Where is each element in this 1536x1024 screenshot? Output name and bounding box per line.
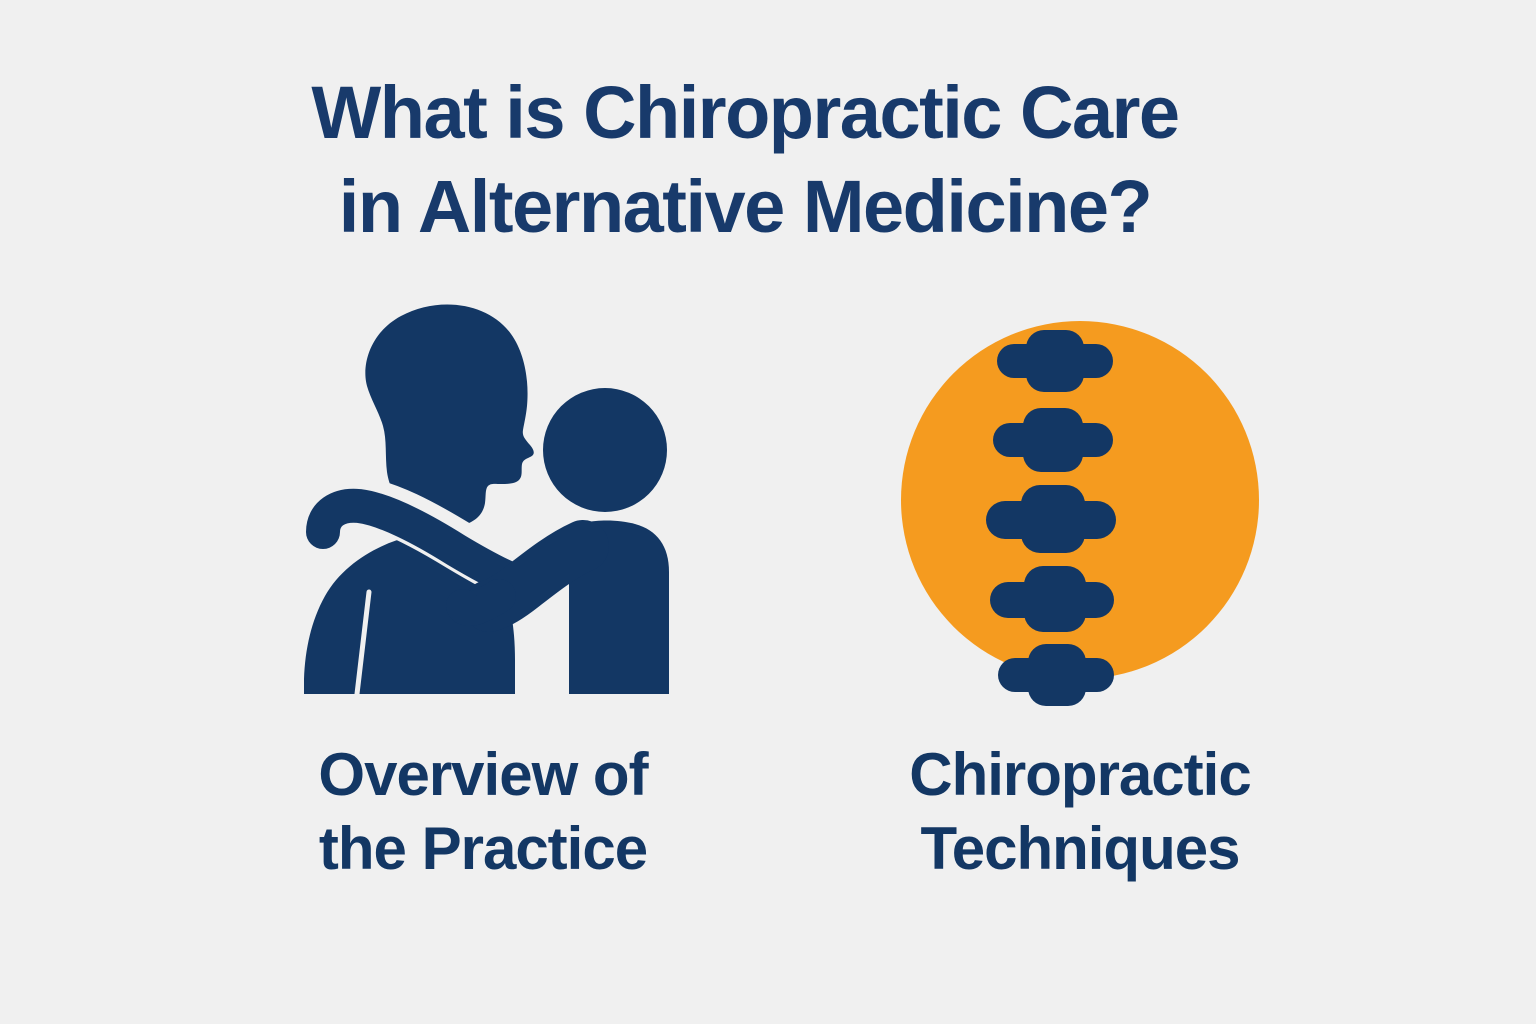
chiropractic-infographic: What is Chiropractic Care in Alternative… [0,0,1536,1024]
card-overview-caption-line-1: Overview of [318,738,647,812]
practitioner-and-patient-icon [283,300,683,700]
card-overview-caption-line-2: the Practice [318,812,647,886]
page-title: What is Chiropractic Care in Alternative… [0,66,1490,254]
practitioner-head [543,388,667,512]
card-overview-of-the-practice: Overview of the Practice [243,300,723,920]
card-overview-caption: Overview of the Practice [318,738,647,886]
card-techniques-caption-line-1: Chiropractic [909,738,1250,812]
card-techniques-caption-line-2: Techniques [909,812,1250,886]
cards-row: Overview of the Practice [0,300,1536,920]
practitioner-and-patient-illustration [283,300,683,700]
card-techniques-caption: Chiropractic Techniques [909,738,1250,886]
spine-vertebrae-icon [880,300,1280,700]
spine-vertebrae-illustration [880,300,1280,700]
page-title-line-2: in Alternative Medicine? [0,160,1490,254]
practitioner-hand [463,596,499,609]
card-chiropractic-techniques: Chiropractic Techniques [840,300,1320,920]
page-title-line-1: What is Chiropractic Care [0,66,1490,160]
